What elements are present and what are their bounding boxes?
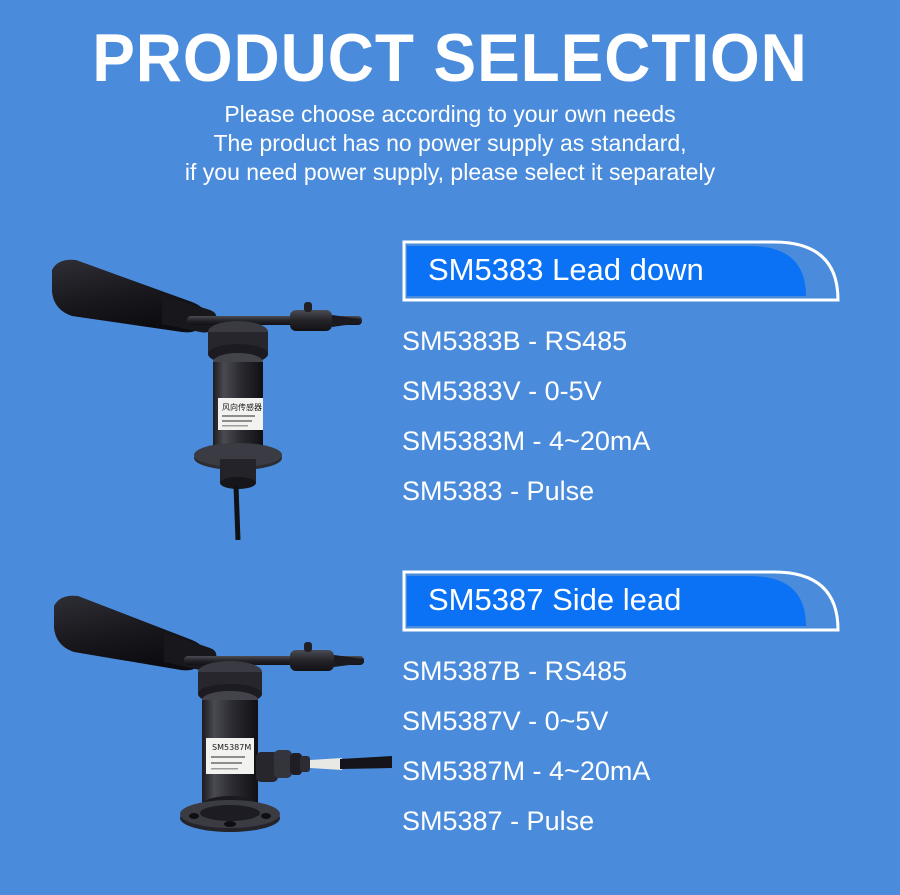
flange-bolt-hole-right bbox=[261, 813, 271, 819]
label-line-3 bbox=[222, 425, 248, 427]
counterweight bbox=[290, 650, 334, 671]
wind-direction-sensor-lead-down-icon: 风向传感器 bbox=[42, 240, 392, 540]
flange-bolt-hole-front bbox=[224, 821, 236, 827]
model-item[interactable]: SM5383B - RS485 bbox=[402, 316, 862, 366]
product-section-sm5383: 风向传感器 SM5383 Lead down bbox=[0, 240, 900, 540]
banner-label-sm5383: SM5383 Lead down bbox=[428, 240, 704, 302]
flange-bolt-hole-left bbox=[189, 813, 199, 819]
subtitle-line-1: Please choose according to your own need… bbox=[0, 100, 900, 129]
gland-cap bbox=[300, 756, 310, 772]
cable-side-lead bbox=[340, 756, 392, 769]
banner-sm5387[interactable]: SM5387 Side lead bbox=[402, 570, 842, 632]
banner-label-sm5387: SM5387 Side lead bbox=[428, 570, 681, 632]
subtitle-block: Please choose according to your own need… bbox=[0, 100, 900, 187]
model-item[interactable]: SM5383M - 4~20mA bbox=[402, 416, 862, 466]
model-item[interactable]: SM5387B - RS485 bbox=[402, 646, 862, 696]
label-line-3 bbox=[211, 768, 238, 770]
flange-inner bbox=[200, 805, 260, 821]
subtitle-line-2: The product has no power supply as stand… bbox=[0, 129, 900, 158]
product-info-sm5383: SM5383 Lead down SM5383B - RS485 SM5383V… bbox=[402, 240, 862, 516]
product-info-sm5387: SM5387 Side lead SM5387B - RS485 SM5387V… bbox=[402, 570, 862, 846]
wind-direction-sensor-side-lead-icon: SM5387M bbox=[42, 570, 392, 870]
label-line-1 bbox=[222, 415, 255, 417]
product-section-sm5387: SM5387M bbox=[0, 570, 900, 870]
label-line-2 bbox=[211, 762, 242, 764]
counterweight bbox=[290, 310, 332, 331]
model-item[interactable]: SM5383V - 0-5V bbox=[402, 366, 862, 416]
model-item[interactable]: SM5387M - 4~20mA bbox=[402, 746, 862, 796]
header: PRODUCT SELECTION Please choose accordin… bbox=[0, 0, 900, 187]
model-item[interactable]: SM5387V - 0~5V bbox=[402, 696, 862, 746]
product-photo-sm5387: SM5387M bbox=[42, 570, 392, 870]
counterweight-screw bbox=[304, 302, 312, 312]
label-line-2 bbox=[222, 420, 252, 422]
label-line-1 bbox=[211, 756, 245, 758]
model-list-sm5387: SM5387B - RS485 SM5387V - 0~5V SM5387M -… bbox=[402, 646, 862, 846]
model-item[interactable]: SM5387 - Pulse bbox=[402, 796, 862, 846]
product-photo-sm5383: 风向传感器 bbox=[42, 240, 392, 540]
model-list-sm5383: SM5383B - RS485 SM5383V - 0-5V SM5383M -… bbox=[402, 316, 862, 516]
product-label-text: 风向传感器 bbox=[222, 402, 262, 412]
gland-body bbox=[274, 750, 292, 778]
counterweight-screw bbox=[304, 642, 312, 652]
banner-sm5383[interactable]: SM5383 Lead down bbox=[402, 240, 842, 302]
page-title: PRODUCT SELECTION bbox=[27, 0, 873, 94]
cable-lead-down bbox=[236, 486, 238, 540]
model-item[interactable]: SM5383 - Pulse bbox=[402, 466, 862, 516]
cable-sheath-white bbox=[310, 758, 342, 770]
product-label-text: SM5387M bbox=[212, 743, 251, 752]
product-selection-page: PRODUCT SELECTION Please choose accordin… bbox=[0, 0, 900, 895]
subtitle-line-3: if you need power supply, please select … bbox=[0, 158, 900, 187]
